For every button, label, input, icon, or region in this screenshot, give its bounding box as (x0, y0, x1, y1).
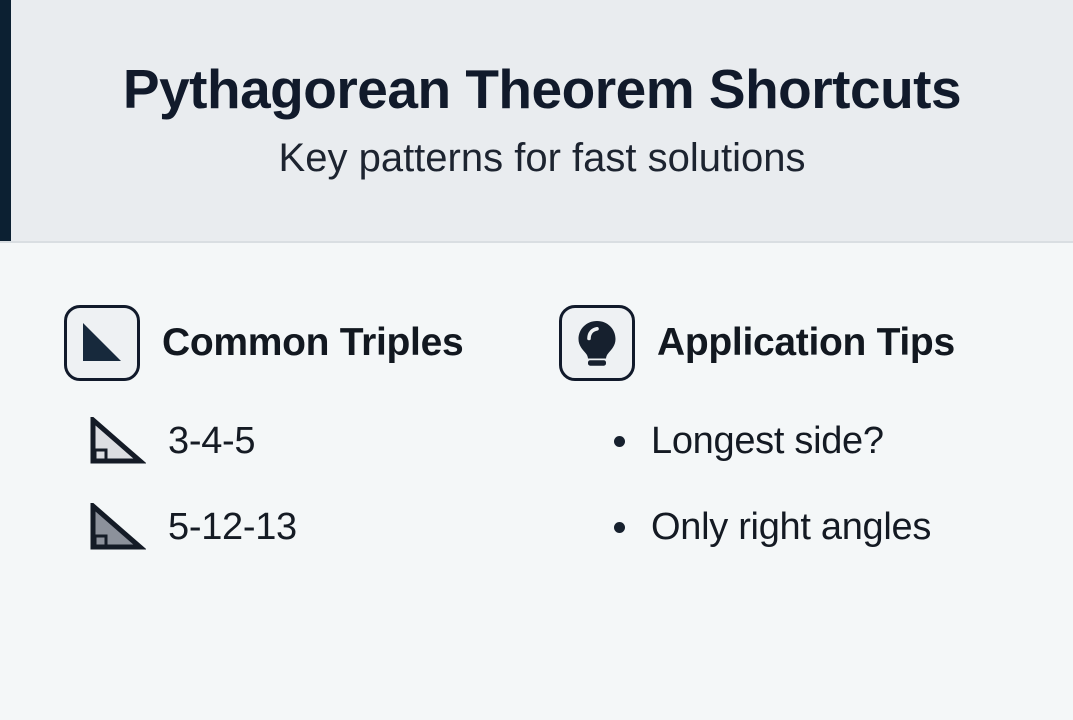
lightbulb-glyph (574, 318, 620, 368)
list-item: 3-4-5 (64, 417, 544, 465)
lightbulb-icon (559, 305, 635, 381)
common-triples-heading: Common Triples (64, 305, 544, 381)
list-item: Longest side? (559, 417, 1049, 465)
triple-label: 3-4-5 (168, 420, 255, 463)
bullet-icon (614, 522, 625, 533)
triple-label: 5-12-13 (168, 506, 297, 549)
tip-label: Longest side? (651, 420, 884, 463)
list-item: 5-12-13 (64, 503, 544, 551)
section-title: Application Tips (657, 321, 955, 365)
common-triples-column: Common Triples 3-4-5 5-12-13 (64, 305, 544, 589)
page-content: Common Triples 3-4-5 5-12-13 (0, 243, 1073, 720)
page-header: Pythagorean Theorem Shortcuts Key patter… (0, 0, 1073, 243)
right-triangle-glyph (77, 319, 127, 367)
right-triangle-icon (88, 417, 146, 465)
page-title: Pythagorean Theorem Shortcuts (123, 61, 961, 119)
application-tips-column: Application Tips Longest side? Only righ… (559, 305, 1049, 589)
header-accent-bar (0, 0, 11, 241)
tip-label: Only right angles (651, 506, 931, 549)
list-item: Only right angles (559, 503, 1049, 551)
section-title: Common Triples (162, 321, 463, 365)
application-tips-heading: Application Tips (559, 305, 1049, 381)
right-triangle-icon (64, 305, 140, 381)
right-triangle-icon (88, 503, 146, 551)
bullet-icon (614, 436, 625, 447)
page-subtitle: Key patterns for fast solutions (279, 136, 806, 180)
header-content: Pythagorean Theorem Shortcuts Key patter… (11, 0, 1073, 241)
